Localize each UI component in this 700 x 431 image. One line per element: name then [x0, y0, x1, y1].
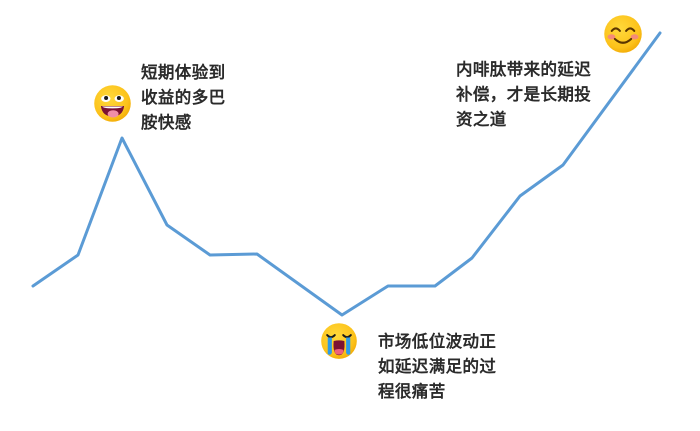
smiling-face-with-smiling-eyes-icon [603, 14, 643, 54]
annotation-trough-text: 市场低位波动正 如延迟满足的过 程很痛苦 [378, 329, 538, 404]
grinning-tongue-face-icon [93, 84, 132, 123]
annotation-peak-text: 短期体验到 收益的多巴 胺快感 [141, 60, 291, 135]
loudly-crying-face-icon [320, 322, 358, 360]
annotation-longterm-text: 内啡肽带来的延迟 补偿，才是长期投 资之道 [456, 57, 631, 132]
chart-canvas: 短期体验到 收益的多巴 胺快感 内啡肽带来的延迟 补偿，才是长期投 资之道 [0, 0, 700, 431]
